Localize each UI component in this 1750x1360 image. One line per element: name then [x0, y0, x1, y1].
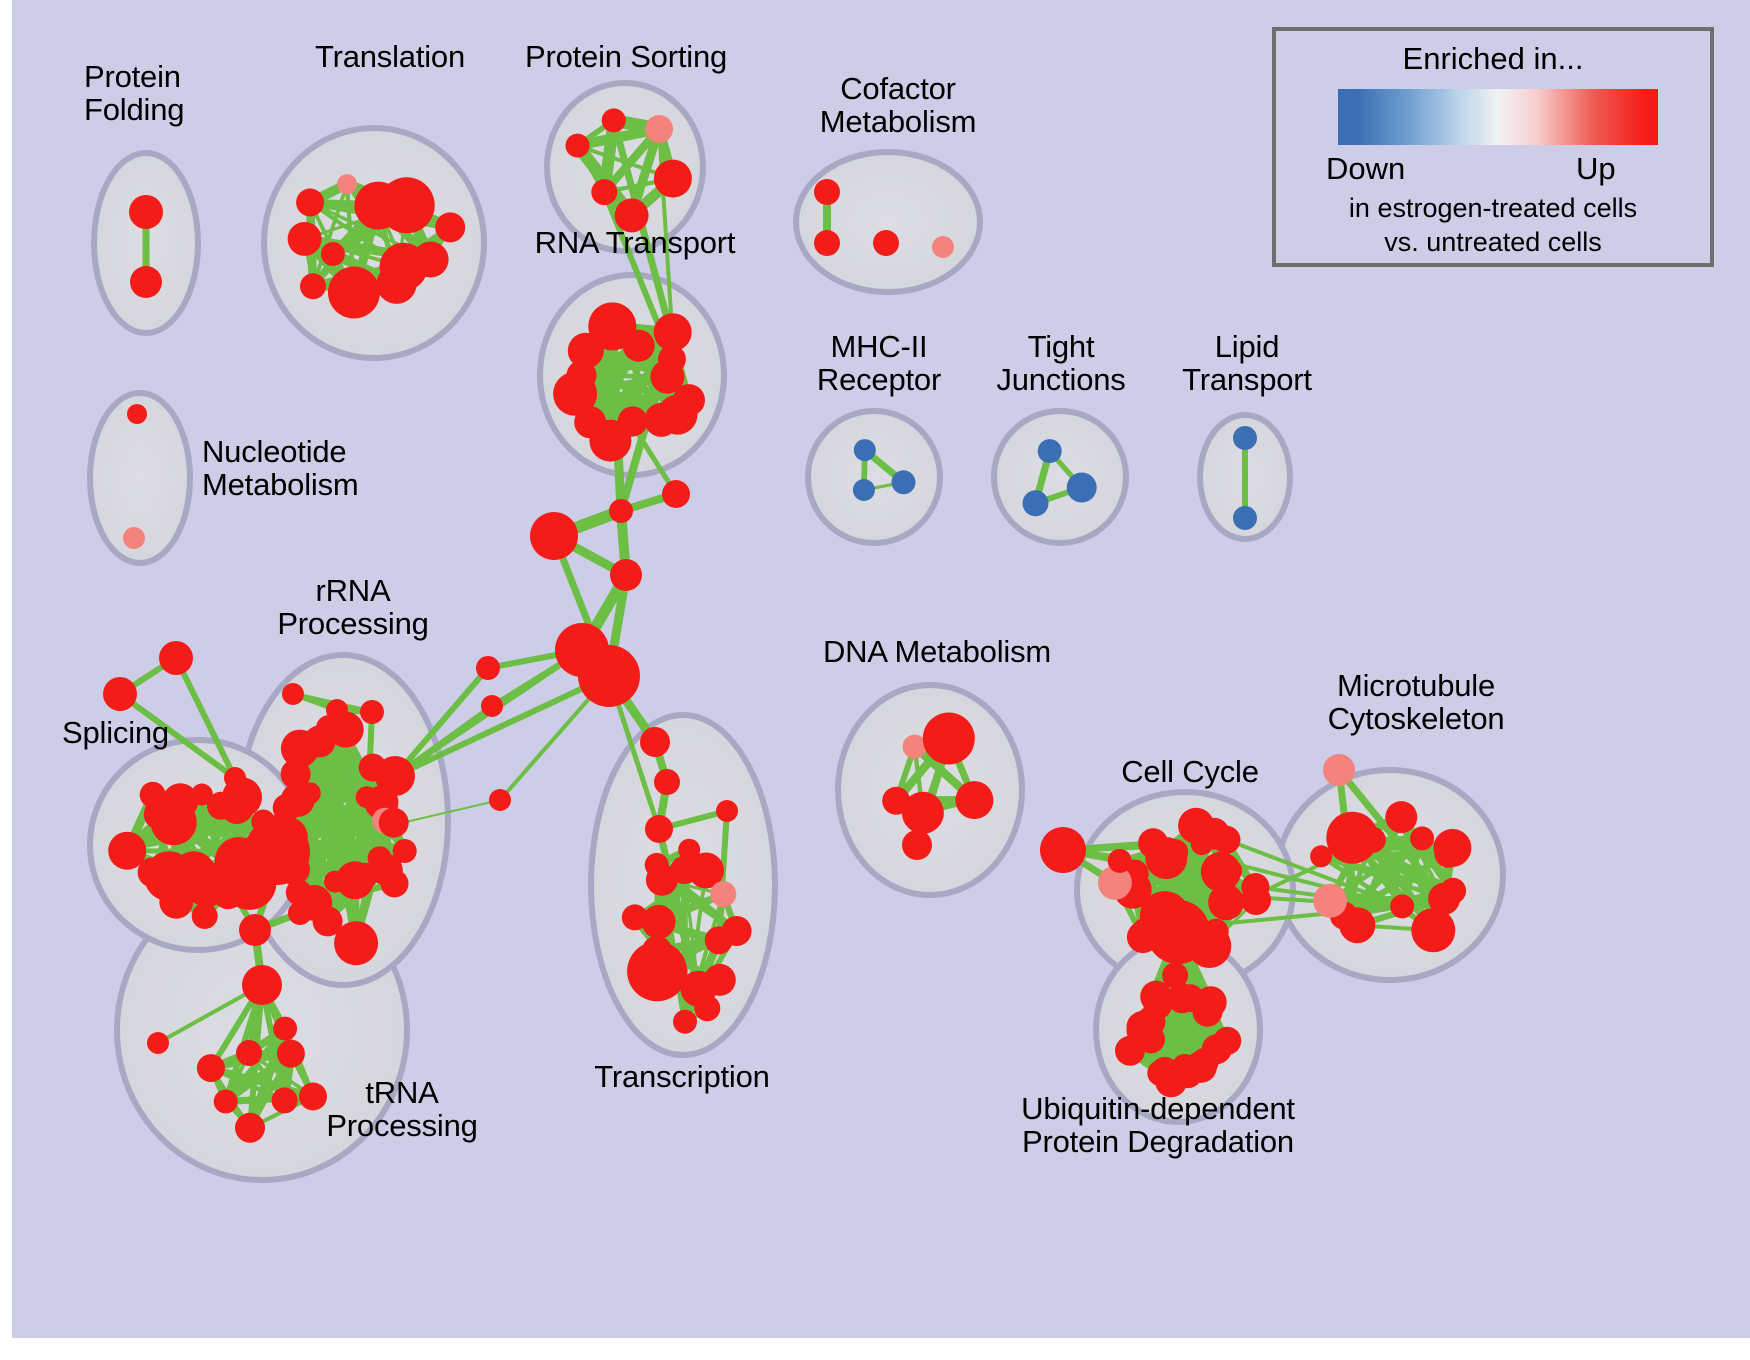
network-node[interactable]	[352, 863, 378, 889]
network-node[interactable]	[379, 177, 435, 233]
network-node[interactable]	[1411, 908, 1455, 952]
network-node[interactable]	[854, 439, 876, 461]
network-node[interactable]	[1162, 839, 1188, 865]
network-node[interactable]	[923, 713, 975, 765]
network-node[interactable]	[955, 781, 993, 819]
cluster-label-translation: Translation	[300, 40, 480, 73]
network-node[interactable]	[602, 108, 626, 132]
legend-subtitle-line-1: in estrogen-treated cells	[1276, 193, 1710, 224]
network-node[interactable]	[296, 189, 324, 217]
network-node[interactable]	[272, 1087, 298, 1113]
cluster-label-rrna-processing: rRNAProcessing	[258, 574, 448, 641]
network-node[interactable]	[273, 1017, 297, 1041]
network-node[interactable]	[375, 756, 415, 796]
network-node[interactable]	[873, 230, 899, 256]
legend-title: Enriched in...	[1276, 41, 1710, 77]
cluster-label-mhc-ii-receptor: MHC-IIReceptor	[794, 330, 964, 397]
network-node[interactable]	[1313, 884, 1347, 918]
network-node[interactable]	[236, 1040, 262, 1066]
network-node[interactable]	[127, 404, 147, 424]
legend-color-gradient-bar	[1338, 89, 1658, 145]
legend-low-label: Down	[1326, 151, 1405, 187]
network-node[interactable]	[932, 236, 954, 258]
network-node[interactable]	[377, 264, 417, 304]
network-node[interactable]	[1023, 490, 1049, 516]
cluster-label-lipid-transport: LipidTransport	[1162, 330, 1332, 397]
network-node[interactable]	[244, 819, 310, 885]
network-node[interactable]	[379, 808, 409, 838]
network-node[interactable]	[324, 871, 346, 893]
network-node[interactable]	[1108, 849, 1132, 873]
network-node[interactable]	[644, 403, 678, 437]
network-node[interactable]	[220, 790, 254, 824]
network-node[interactable]	[642, 936, 672, 966]
network-node[interactable]	[337, 174, 357, 194]
cluster-label-microtubule-cytoskeleton: MicrotubuleCytoskeleton	[1296, 669, 1536, 736]
cluster-ellipse-mhc-ii-receptor	[808, 411, 940, 543]
network-node[interactable]	[640, 727, 670, 757]
network-node[interactable]	[328, 267, 380, 319]
network-node[interactable]	[1435, 840, 1463, 868]
network-node[interactable]	[1146, 900, 1210, 964]
network-node[interactable]	[1323, 754, 1355, 786]
network-node[interactable]	[645, 115, 673, 143]
network-node[interactable]	[476, 656, 500, 680]
network-node[interactable]	[197, 1054, 225, 1082]
network-node[interactable]	[1390, 894, 1414, 918]
cluster-label-trna-processing: tRNAProcessing	[302, 1076, 502, 1143]
network-node[interactable]	[288, 222, 322, 256]
network-node[interactable]	[1410, 826, 1434, 850]
network-node[interactable]	[1067, 473, 1097, 503]
cluster-ellipse-tight-junctions	[994, 411, 1126, 543]
network-node[interactable]	[282, 683, 304, 705]
network-node[interactable]	[1038, 439, 1062, 463]
network-node[interactable]	[130, 266, 162, 298]
network-node[interactable]	[277, 1040, 305, 1068]
network-node[interactable]	[1241, 885, 1271, 915]
network-node[interactable]	[1360, 827, 1386, 853]
network-node[interactable]	[1213, 1027, 1241, 1055]
cluster-label-protein-sorting: Protein Sorting	[516, 40, 736, 73]
network-node[interactable]	[710, 881, 736, 907]
network-node[interactable]	[1233, 426, 1257, 450]
network-node[interactable]	[242, 965, 282, 1005]
network-node[interactable]	[326, 699, 348, 721]
network-node[interactable]	[814, 230, 840, 256]
network-node[interactable]	[530, 512, 578, 560]
cluster-label-transcription: Transcription	[572, 1060, 792, 1093]
network-node[interactable]	[224, 767, 246, 789]
figure-canvas: ProteinFolding Translation NucleotideMet…	[0, 0, 1750, 1360]
network-node[interactable]	[214, 1090, 238, 1114]
network-node[interactable]	[481, 695, 503, 717]
network-node[interactable]	[381, 870, 409, 898]
network-node[interactable]	[147, 1032, 169, 1054]
legend-panel: Enriched in... Down Up in estrogen-treat…	[1272, 27, 1714, 267]
network-node[interactable]	[321, 242, 345, 266]
network-node[interactable]	[882, 787, 910, 815]
network-node[interactable]	[578, 645, 640, 707]
network-node[interactable]	[235, 1113, 265, 1143]
network-node[interactable]	[393, 839, 417, 863]
network-node[interactable]	[300, 273, 326, 299]
network-node[interactable]	[853, 479, 875, 501]
network-node[interactable]	[642, 905, 676, 939]
cluster-label-protein-folding: ProteinFolding	[84, 60, 264, 127]
network-node[interactable]	[902, 830, 932, 860]
cluster-label-ubiquitin-protein-degradation: Ubiquitin-dependentProtein Degradation	[988, 1092, 1328, 1159]
network-node[interactable]	[623, 330, 655, 362]
network-node[interactable]	[654, 160, 692, 198]
network-node[interactable]	[360, 700, 384, 724]
network-node[interactable]	[239, 914, 271, 946]
network-node[interactable]	[673, 1010, 697, 1034]
cluster-label-dna-metabolism: DNA Metabolism	[812, 635, 1062, 668]
network-node[interactable]	[115, 835, 139, 859]
network-node[interactable]	[129, 195, 163, 229]
network-node[interactable]	[591, 179, 617, 205]
network-node[interactable]	[645, 815, 673, 843]
cluster-label-nucleotide-metabolism: NucleotideMetabolism	[202, 435, 432, 502]
network-node[interactable]	[722, 916, 752, 946]
network-node[interactable]	[1040, 827, 1086, 873]
cluster-label-cell-cycle: Cell Cycle	[1100, 755, 1280, 788]
cluster-label-splicing: Splicing	[62, 716, 222, 749]
cluster-label-tight-junctions: TightJunctions	[976, 330, 1146, 397]
network-node[interactable]	[610, 559, 642, 591]
cluster-label-rna-transport: RNA Transport	[520, 226, 750, 259]
network-node[interactable]	[1385, 801, 1417, 833]
network-node[interactable]	[103, 677, 137, 711]
network-node[interactable]	[654, 769, 680, 795]
network-node[interactable]	[489, 789, 511, 811]
network-node[interactable]	[1193, 997, 1223, 1027]
network-node[interactable]	[566, 134, 590, 158]
network-node[interactable]	[210, 860, 234, 884]
network-node[interactable]	[192, 903, 218, 929]
network-node[interactable]	[716, 800, 738, 822]
network-node[interactable]	[1218, 859, 1242, 883]
network-node[interactable]	[435, 212, 465, 242]
network-node[interactable]	[892, 470, 916, 494]
network-node[interactable]	[662, 480, 690, 508]
network-node[interactable]	[1147, 1060, 1173, 1086]
network-node[interactable]	[650, 360, 684, 394]
network-node[interactable]	[1233, 506, 1257, 530]
cluster-label-cofactor-metabolism: CofactorMetabolism	[798, 72, 998, 139]
legend-high-label: Up	[1576, 151, 1616, 187]
network-node[interactable]	[159, 641, 193, 675]
network-node[interactable]	[140, 782, 166, 808]
network-node[interactable]	[1213, 826, 1241, 854]
network-node[interactable]	[288, 901, 312, 925]
legend-subtitle-line-2: vs. untreated cells	[1276, 227, 1710, 258]
network-node[interactable]	[609, 499, 633, 523]
network-node[interactable]	[814, 179, 840, 205]
network-node[interactable]	[123, 527, 145, 549]
